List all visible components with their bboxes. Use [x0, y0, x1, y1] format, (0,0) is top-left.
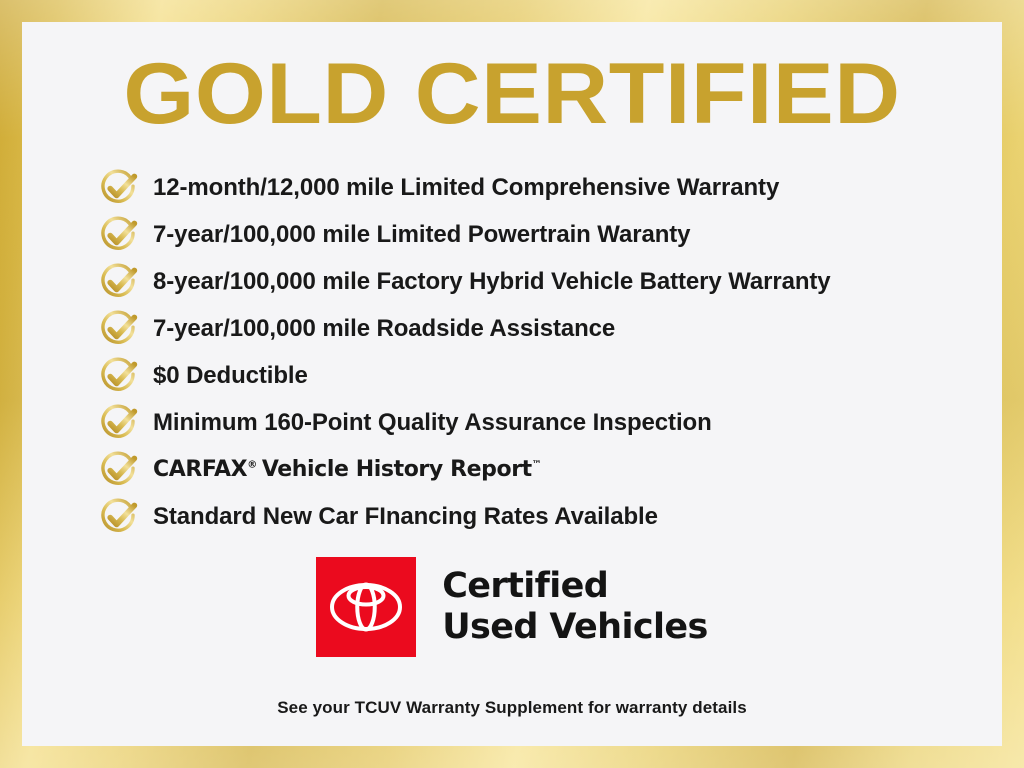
carfax-label-rest: Vehicle History Report	[262, 457, 532, 482]
gold-check-icon	[97, 448, 141, 492]
cuv-line-1: Certified	[442, 566, 708, 607]
feature-label: $0 Deductible	[153, 362, 308, 390]
carfax-wordmark: CARFAX	[153, 457, 247, 482]
registered-mark: ®	[247, 459, 257, 470]
list-item: 8-year/100,000 mile Factory Hybrid Vehic…	[97, 258, 997, 305]
list-item: Standard New Car FInancing Rates Availab…	[97, 493, 997, 540]
page-title: GOLD CERTIFIED	[0, 46, 1024, 142]
feature-label-carfax: CARFAX®Vehicle History Report™	[153, 456, 541, 484]
gold-check-icon	[97, 260, 141, 304]
list-item: 12-month/12,000 mile Limited Comprehensi…	[97, 164, 997, 211]
feature-label: Minimum 160-Point Quality Assurance Insp…	[153, 409, 712, 437]
feature-label: 7-year/100,000 mile Roadside Assistance	[153, 315, 615, 343]
toyota-emblem-icon	[316, 557, 416, 657]
warranty-disclaimer: See your TCUV Warranty Supplement for wa…	[22, 698, 1002, 718]
trademark-mark: ™	[532, 459, 542, 470]
gold-check-icon	[97, 166, 141, 210]
gold-check-icon	[97, 401, 141, 445]
gold-certified-certificate: GOLD CERTIFIED	[0, 0, 1024, 768]
gold-check-icon	[97, 213, 141, 257]
feature-label: Standard New Car FInancing Rates Availab…	[153, 503, 658, 531]
feature-label: 7-year/100,000 mile Limited Powertrain W…	[153, 221, 690, 249]
feature-label: 8-year/100,000 mile Factory Hybrid Vehic…	[153, 268, 831, 296]
list-item: 7-year/100,000 mile Roadside Assistance	[97, 305, 997, 352]
list-item: $0 Deductible	[97, 352, 997, 399]
gold-check-icon	[97, 354, 141, 398]
cuv-line-2: Used Vehicles	[442, 607, 708, 648]
feature-label: 12-month/12,000 mile Limited Comprehensi…	[153, 174, 779, 202]
toyota-certified-used-vehicles-logo: Certified Used Vehicles	[22, 557, 1002, 657]
gold-check-icon	[97, 307, 141, 351]
feature-list: 12-month/12,000 mile Limited Comprehensi…	[97, 164, 997, 540]
gold-check-icon	[97, 495, 141, 539]
list-item: 7-year/100,000 mile Limited Powertrain W…	[97, 211, 997, 258]
cuv-wordmark: Certified Used Vehicles	[442, 566, 708, 648]
certificate-panel: GOLD CERTIFIED	[22, 22, 1002, 746]
list-item: Minimum 160-Point Quality Assurance Insp…	[97, 399, 997, 446]
list-item: CARFAX®Vehicle History Report™	[97, 446, 997, 493]
